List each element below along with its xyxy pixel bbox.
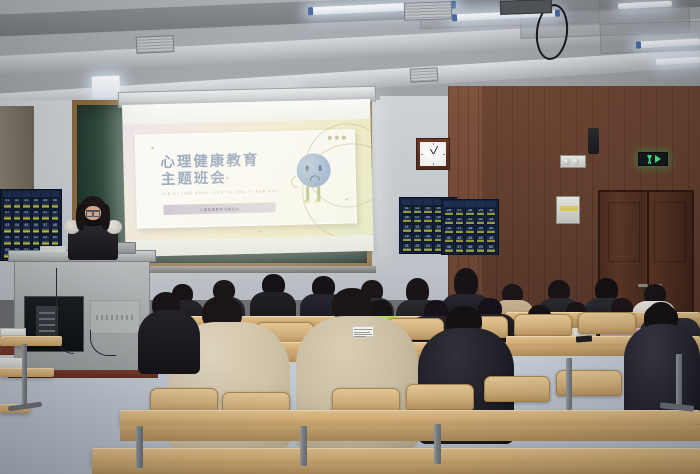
pocket-board-row: 4647484950 — [443, 244, 497, 253]
phone-pocket[interactable]: 01 — [402, 206, 412, 214]
chair-back[interactable] — [484, 376, 550, 402]
phone-pocket[interactable]: 31 — [444, 217, 454, 225]
desk-leg — [434, 424, 441, 464]
phone-pocket[interactable]: 29 — [476, 208, 486, 216]
phone-pocket[interactable]: 39 — [476, 226, 486, 234]
phone-pocket[interactable]: 50 — [486, 244, 496, 252]
pocket-board-row: 3637383940 — [443, 225, 497, 234]
chair-back[interactable] — [514, 314, 572, 336]
phone-pocket[interactable]: 43 — [465, 235, 475, 243]
presenter-at-podium — [62, 198, 124, 260]
ceiling-vent — [410, 67, 439, 82]
student-black-left-fg — [138, 300, 200, 370]
ceiling-tile — [600, 20, 700, 54]
phone-pocket[interactable]: 34 — [476, 217, 486, 225]
phone-pocket[interactable]: 50 — [13, 235, 22, 246]
clock-face — [420, 142, 446, 166]
desk-row-3-front — [120, 425, 700, 441]
phone-pocket[interactable]: 51 — [22, 235, 31, 246]
phone-pocket[interactable]: 34 — [32, 198, 41, 209]
desk-left-foreground — [0, 336, 62, 346]
pocket-board-row: 4142434445 — [443, 235, 497, 244]
desk-leg — [136, 426, 143, 468]
phone-pocket[interactable]: 40 — [32, 210, 41, 221]
running-man-icon — [646, 155, 653, 164]
slide-title-line1: 心理健康教育 — [160, 153, 259, 171]
phone-pocket[interactable]: 40 — [486, 226, 496, 234]
pocket-board-row: 373839404142 — [2, 209, 60, 221]
phone-pocket[interactable]: 13 — [423, 224, 433, 232]
phone-pocket[interactable]: 26 — [444, 208, 454, 216]
phone-pocket[interactable]: 33 — [465, 217, 475, 225]
desk-leg — [300, 426, 307, 466]
phone-pocket-board-right-b: 2627282930313233343536373839404142434445… — [441, 199, 499, 255]
wall-speaker — [588, 128, 599, 154]
phone-pocket[interactable]: 37 — [3, 210, 12, 221]
clock-minute-hand — [433, 146, 438, 155]
phone-pocket[interactable]: 43 — [3, 222, 12, 233]
exit-arrow-icon — [655, 155, 661, 163]
slide-banner: 心理健康教育主题班会 — [163, 202, 275, 215]
phone-pocket[interactable]: 47 — [455, 244, 465, 252]
phone-pocket[interactable]: 41 — [41, 210, 50, 221]
phone-pocket[interactable]: 35 — [486, 217, 496, 225]
phone-pocket[interactable]: 37 — [455, 226, 465, 234]
phone-pocket[interactable]: 23 — [423, 243, 433, 251]
phone-pocket[interactable]: 18 — [423, 234, 433, 242]
phone-pocket[interactable]: 53 — [41, 235, 50, 246]
phone-pocket[interactable]: 48 — [51, 222, 60, 233]
phone-pocket[interactable]: 33 — [22, 198, 31, 209]
phone-pocket[interactable]: 39 — [22, 210, 31, 221]
phone-pocket[interactable]: 16 — [402, 234, 412, 242]
phone-pocket[interactable]: 02 — [413, 206, 423, 214]
phone-pocket[interactable]: 36 — [444, 226, 454, 234]
phone-pocket[interactable]: 32 — [455, 217, 465, 225]
papers-on-desk — [0, 328, 26, 336]
phone-pocket[interactable]: 36 — [51, 198, 60, 209]
jacket-label-tag — [352, 326, 374, 337]
desk-leg — [566, 358, 572, 410]
slide-title: 心理健康教育 主题班会 — [160, 153, 260, 189]
phone-pocket[interactable]: 06 — [402, 215, 412, 223]
phone-pocket[interactable]: 48 — [465, 244, 475, 252]
papers-on-desk — [0, 358, 22, 368]
chair-back[interactable] — [406, 384, 474, 410]
slide-banner-text: 心理健康教育主题班会 — [200, 206, 240, 212]
phone-pocket[interactable]: 38 — [13, 210, 22, 221]
phone-pocket[interactable]: 47 — [41, 222, 50, 233]
pocket-board-row: 3132333435 — [443, 216, 497, 225]
phone-pocket[interactable]: 41 — [444, 235, 454, 243]
phone-pocket[interactable]: 35 — [41, 198, 50, 209]
wall-clock — [416, 138, 450, 170]
pocket-board-row: 495051525354 — [2, 234, 60, 246]
emergency-exit-sign — [638, 152, 668, 166]
phone-pocket[interactable]: 52 — [32, 235, 41, 246]
phone-pocket[interactable]: 46 — [32, 222, 41, 233]
phone-on-desk[interactable] — [576, 335, 592, 342]
emergency-light — [560, 155, 586, 168]
slide: 心理健康教育 主题班会 XIN LI JIAN KANG JIAO YU ZHU… — [122, 119, 373, 241]
phone-pocket[interactable]: 27 — [455, 208, 465, 216]
desk-row-3 — [120, 410, 700, 426]
phone-pocket[interactable]: 28 — [465, 208, 475, 216]
slide-title-line2: 主题班会 — [161, 170, 260, 189]
projection-screen: 心理健康教育 主题班会 XIN LI JIAN KANG JIAO YU ZHU… — [122, 99, 374, 257]
desk-left-foreground-lower — [0, 368, 54, 377]
lectern-vent-panel — [90, 300, 140, 334]
phone-pocket[interactable]: 42 — [51, 210, 60, 221]
phone-pocket[interactable]: 44 — [13, 222, 22, 233]
phone-pocket[interactable]: 31 — [3, 198, 12, 209]
phone-pocket[interactable]: 46 — [444, 244, 454, 252]
phone-pocket[interactable]: 12 — [413, 224, 423, 232]
phone-pocket[interactable]: 30 — [486, 208, 496, 216]
phone-pocket[interactable]: 49 — [3, 235, 12, 246]
phone-pocket[interactable]: 07 — [413, 215, 423, 223]
pocket-board-row: 313233343536 — [2, 197, 60, 209]
ceiling-light — [92, 76, 121, 99]
phone-pocket[interactable]: 44 — [476, 235, 486, 243]
desk-row-4-front — [92, 464, 700, 474]
wall-control-panel[interactable] — [556, 196, 580, 224]
pocket-board-row: 434445464748 — [2, 222, 60, 234]
phone-pocket[interactable]: 21 — [402, 243, 412, 251]
phone-pocket[interactable]: 11 — [402, 224, 412, 232]
classroom-photo: 心理健康教育 主题班会 XIN LI JIAN KANG JIAO YU ZHU… — [0, 0, 700, 474]
phone-pocket[interactable]: 45 — [22, 222, 31, 233]
phone-pocket[interactable]: 42 — [455, 235, 465, 243]
projector-mount — [500, 0, 552, 15]
phone-pocket[interactable]: 17 — [413, 234, 423, 242]
phone-pocket[interactable]: 03 — [423, 206, 433, 214]
ceiling-vent — [136, 35, 175, 54]
presenter-glasses — [86, 210, 100, 214]
phone-pocket[interactable]: 49 — [476, 244, 486, 252]
desk-leg — [676, 354, 682, 410]
phone-pocket[interactable]: 08 — [423, 215, 433, 223]
pocket-board-row: 2627282930 — [443, 207, 497, 216]
phone-pocket[interactable]: 32 — [13, 198, 22, 209]
phone-pocket[interactable]: 38 — [465, 226, 475, 234]
phone-pocket[interactable]: 54 — [51, 235, 60, 246]
slide-pinyin: XIN LI JIAN KANG JIAO YU ZHU TI BAN HUI — [162, 189, 278, 196]
desk-leg — [22, 344, 27, 406]
ceiling-vent — [404, 1, 453, 21]
phone-pocket[interactable]: 45 — [486, 235, 496, 243]
phone-pocket[interactable]: 22 — [413, 243, 423, 251]
